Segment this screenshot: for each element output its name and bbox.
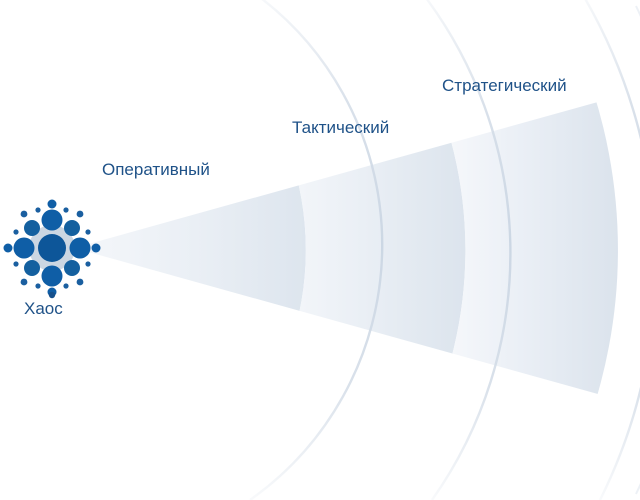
chaos-label: Хаос: [24, 300, 63, 317]
outer-arc-decoration: [636, 6, 640, 494]
diagram-canvas: Хаос Оперативный Тактический Стратегичес…: [0, 0, 640, 500]
cone-body: [60, 60, 618, 440]
cone-diagram-graphic: [0, 0, 640, 500]
arc-outer-edge: [636, 6, 640, 494]
level-label-strategic: Стратегический: [442, 77, 567, 94]
level-label-tactical: Тактический: [292, 119, 389, 136]
chaos-burst-icon: [4, 200, 101, 299]
level-label-operational: Оперативный: [102, 161, 210, 178]
